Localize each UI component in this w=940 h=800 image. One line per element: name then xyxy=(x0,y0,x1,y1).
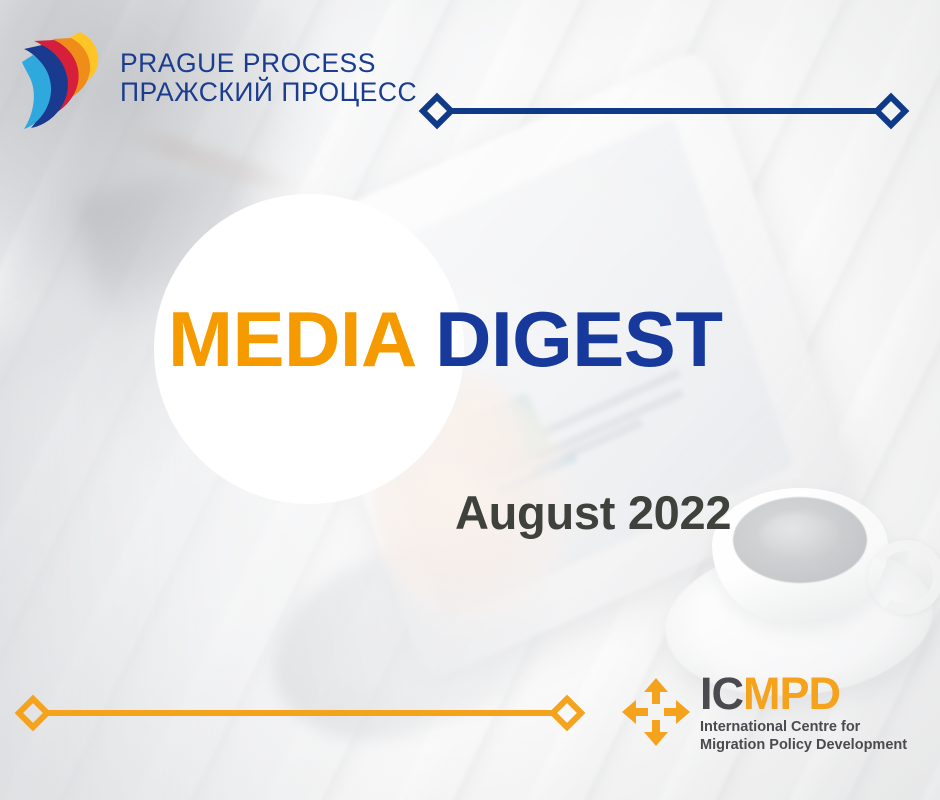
icmpd-tagline-line-1: International Centre for xyxy=(700,719,907,737)
prague-process-wordmark: PRAGUE PROCESS ПРАЖСКИЙ ПРОЦЕСС xyxy=(120,50,417,105)
title-digest: DIGEST xyxy=(435,295,722,383)
prague-process-swoosh-icon xyxy=(22,26,108,130)
diamond-left-icon xyxy=(419,93,456,130)
logo-line-latin: PRAGUE PROCESS xyxy=(120,50,417,77)
four-way-arrow-icon xyxy=(618,674,694,750)
icmpd-wordmark: ICMPD International Centre for Migration… xyxy=(700,672,907,755)
top-divider-rule xyxy=(424,98,904,124)
rule-bar xyxy=(46,710,554,716)
poster-foreground: PRAGUE PROCESS ПРАЖСКИЙ ПРОЦЕСС MEDIA DI… xyxy=(0,0,940,800)
diamond-right-icon xyxy=(873,93,910,130)
title-media: MEDIA xyxy=(168,295,414,383)
page-title: MEDIA DIGEST xyxy=(168,300,722,378)
icmpd-tagline-line-2: Migration Policy Development xyxy=(700,737,907,755)
icmpd-acronym-ic: IC xyxy=(700,668,743,719)
diamond-left-icon xyxy=(15,695,52,732)
icmpd-acronym-mpd: MPD xyxy=(743,668,840,719)
title-separator xyxy=(414,295,435,383)
issue-date: August 2022 xyxy=(455,485,731,540)
logo-line-cyrillic: ПРАЖСКИЙ ПРОЦЕСС xyxy=(120,79,417,106)
icmpd-acronym: ICMPD xyxy=(700,672,907,716)
bottom-divider-rule xyxy=(20,700,580,726)
prague-process-logo: PRAGUE PROCESS ПРАЖСКИЙ ПРОЦЕСС xyxy=(22,26,417,130)
icmpd-tagline: International Centre for Migration Polic… xyxy=(700,719,907,755)
icmpd-logo: ICMPD International Centre for Migration… xyxy=(618,672,907,755)
diamond-right-icon xyxy=(549,695,586,732)
media-digest-poster: PRAGUE PROCESS ПРАЖСКИЙ ПРОЦЕСС MEDIA DI… xyxy=(0,0,940,800)
rule-bar xyxy=(450,108,878,114)
